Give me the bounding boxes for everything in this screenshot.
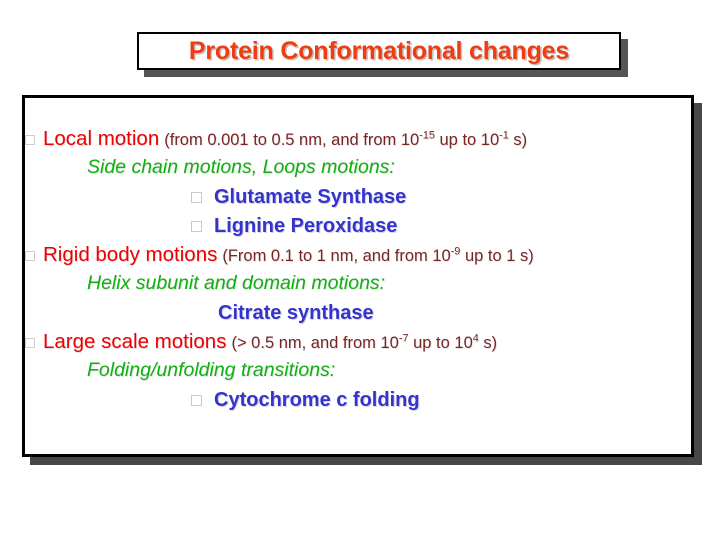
section-subheading-row: Folding/unfolding transitions: <box>25 361 691 390</box>
exponent: -1 <box>499 130 509 142</box>
section-range-label: (> 0.5 nm, and from 10-7 up to 104 s) <box>231 335 497 352</box>
square-bullet-icon <box>191 192 202 203</box>
list-item-label: Citrate synthase <box>218 303 374 323</box>
list-item: Glutamate Synthase <box>25 187 691 216</box>
motion-categories-list: Local motion (from 0.001 to 0.5 nm, and … <box>25 129 691 419</box>
section-heading-label: Rigid body motions <box>43 245 217 266</box>
slide-content-area: Local motion (from 0.001 to 0.5 nm, and … <box>22 95 694 457</box>
slide-title-area: Protein Conformational changes <box>137 32 621 70</box>
section-heading-row: Local motion (from 0.001 to 0.5 nm, and … <box>25 129 691 158</box>
square-bullet-icon <box>25 338 35 348</box>
square-bullet-icon <box>25 135 35 145</box>
list-item: Cytochrome c folding <box>25 390 691 419</box>
exponent: -9 <box>451 246 461 258</box>
section-heading-label: Local motion <box>43 129 159 150</box>
list-item: Lignine Peroxidase <box>25 216 691 245</box>
square-bullet-icon <box>25 251 35 261</box>
section-heading-row: Rigid body motions (From 0.1 to 1 nm, an… <box>25 245 691 274</box>
section-range-label: (From 0.1 to 1 nm, and from 10-9 up to 1… <box>222 248 533 265</box>
square-bullet-icon <box>191 395 202 406</box>
section-heading-label: Large scale motions <box>43 332 226 353</box>
title-box: Protein Conformational changes <box>137 32 621 70</box>
section-heading-row: Large scale motions (> 0.5 nm, and from … <box>25 332 691 361</box>
section-subheading-label: Folding/unfolding transitions: <box>87 361 335 381</box>
section-subheading-label: Helix subunit and domain motions: <box>87 274 385 294</box>
exponent: -15 <box>419 130 435 142</box>
section-subheading-label: Side chain motions, Loops motions: <box>87 158 395 178</box>
section-subheading-row: Helix subunit and domain motions: <box>25 274 691 303</box>
list-item-label: Cytochrome c folding <box>214 390 420 410</box>
list-item-label: Lignine Peroxidase <box>214 216 397 236</box>
square-bullet-icon <box>191 221 202 232</box>
section-subheading-row: Side chain motions, Loops motions: <box>25 158 691 187</box>
page-title: Protein Conformational changes <box>189 37 569 66</box>
list-item: Citrate synthase <box>25 303 691 332</box>
list-item-label: Glutamate Synthase <box>214 187 406 207</box>
content-box: Local motion (from 0.001 to 0.5 nm, and … <box>22 95 694 457</box>
section-range-label: (from 0.001 to 0.5 nm, and from 10-15 up… <box>164 132 527 149</box>
exponent: -7 <box>399 333 409 345</box>
